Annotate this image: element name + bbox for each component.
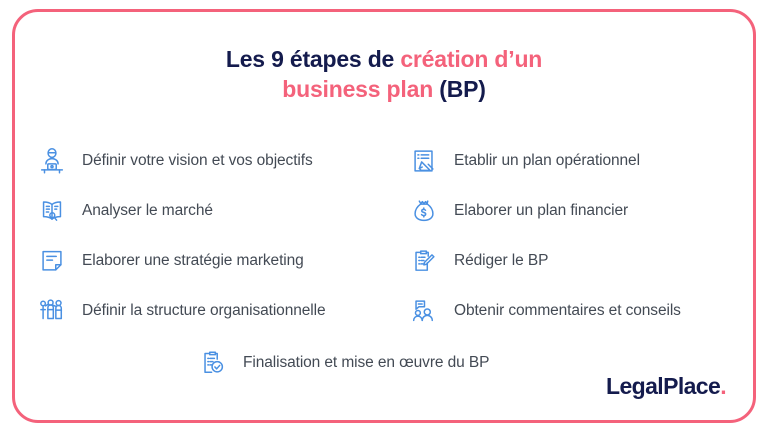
list-item-label: Etablir un plan opérationnel xyxy=(454,152,640,170)
money-bag-icon xyxy=(408,195,440,227)
people-group-icon xyxy=(36,295,68,327)
list-item: Elaborer une stratégie marketing xyxy=(36,236,408,286)
list-item: Etablir un plan opérationnel xyxy=(408,136,748,186)
title-line-1: Les 9 étapes de création d’un xyxy=(0,45,768,75)
list-item-label: Obtenir commentaires et conseils xyxy=(454,302,681,320)
infographic-card: Les 9 étapes de création d’un business p… xyxy=(0,0,768,432)
list-item: Elaborer un plan financier xyxy=(408,186,748,236)
steps-list: Définir votre vision et vos objectifs An… xyxy=(0,136,768,336)
logo-text: LegalPlace xyxy=(606,373,720,399)
list-item: Définir la structure organisationnelle xyxy=(36,286,408,336)
feedback-people-icon xyxy=(408,295,440,327)
title-segment-pink-2: business plan xyxy=(282,76,439,102)
list-item-label: Elaborer un plan financier xyxy=(454,202,628,220)
title-segment-pink: création d’un xyxy=(400,46,542,72)
list-item-label: Définir votre vision et vos objectifs xyxy=(82,152,313,170)
person-at-desk-icon xyxy=(36,145,68,177)
list-item: Définir votre vision et vos objectifs xyxy=(36,136,408,186)
logo-dot: . xyxy=(720,373,726,399)
page-title: Les 9 étapes de création d’un business p… xyxy=(0,45,768,105)
clipboard-pencil-icon xyxy=(408,245,440,277)
list-item-label: Finalisation et mise en œuvre du BP xyxy=(243,354,489,372)
list-item-label: Rédiger le BP xyxy=(454,252,548,270)
list-item: Obtenir commentaires et conseils xyxy=(408,286,748,336)
list-item-label: Analyser le marché xyxy=(82,202,213,220)
list-item-label: Elaborer une stratégie marketing xyxy=(82,252,304,270)
steps-column-right: Etablir un plan opérationnel Elaborer un… xyxy=(408,136,748,336)
note-document-icon xyxy=(36,245,68,277)
title-segment-dark-2: (BP) xyxy=(439,76,485,102)
list-item: Rédiger le BP xyxy=(408,236,748,286)
open-book-search-icon xyxy=(36,195,68,227)
clipboard-check-icon xyxy=(197,347,229,379)
legalplace-logo: LegalPlace. xyxy=(606,373,726,400)
title-line-2: business plan (BP) xyxy=(0,75,768,105)
list-item: Analyser le marché xyxy=(36,186,408,236)
document-pen-icon xyxy=(408,145,440,177)
steps-column-left: Définir votre vision et vos objectifs An… xyxy=(36,136,408,336)
title-segment-dark: Les 9 étapes de xyxy=(226,46,401,72)
list-item-final: Finalisation et mise en œuvre du BP xyxy=(197,347,489,379)
list-item-label: Définir la structure organisationnelle xyxy=(82,302,325,320)
